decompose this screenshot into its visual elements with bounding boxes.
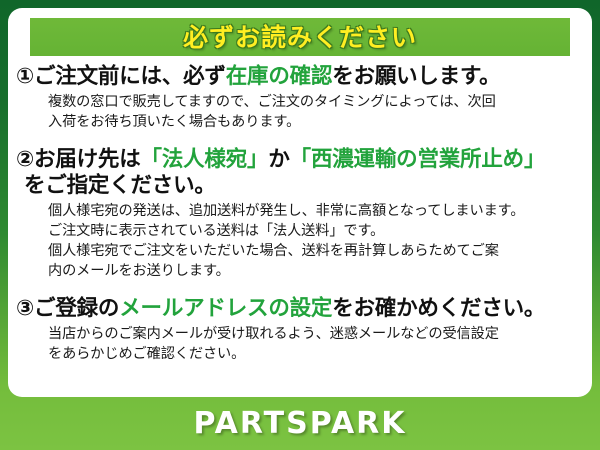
- notice-item-3-subtext: 当店からのご案内メールが受け取れるよう、迷惑メールなどの受信設定 をあらかじめご…: [16, 324, 582, 364]
- notice-item-2-subtext: 個人様宅宛の発送は、追加送料が発生し、非常に高額となってしまいます。 ご注文時に…: [16, 201, 582, 282]
- notice-item-1-subtext: 複数の窓口で販売してますので、ご注文のタイミングによっては、次回 入荷をお待ち頂…: [16, 92, 582, 132]
- notice-item-2: ②お届け先は「法人様宛」か「西濃運輸の営業所止め」をご指定ください。 個人様宅宛…: [8, 147, 592, 282]
- item-2-sub-line-1: 個人様宅宛の発送は、追加送料が発生し、非常に高額となってしまいます。: [48, 201, 582, 221]
- item-2-head-part2: か: [268, 147, 289, 172]
- item-2-number: ②: [16, 147, 34, 172]
- item-3-sub-line-2: をあらかじめご確認ください。: [48, 344, 582, 364]
- notice-list: ①ご注文前には、必ず在庫の確認をお願いします。 複数の窓口で販売してますので、ご…: [8, 64, 592, 364]
- item-1-sub-line-1: 複数の窓口で販売してますので、ご注文のタイミングによっては、次回: [48, 92, 582, 112]
- notice-card: 必ずお読みください ①ご注文前には、必ず在庫の確認をお願いします。 複数の窓口で…: [8, 8, 592, 397]
- notice-item-3-heading: ③ご登録のメールアドレスの設定をお確かめください。: [16, 296, 582, 322]
- item-3-number: ③: [16, 296, 34, 321]
- title-band: 必ずお読みください: [30, 18, 570, 56]
- item-2-highlight-1: 「法人様宛」: [141, 147, 269, 172]
- item-1-sub-line-2: 入荷をお待ち頂いたく場合もあります。: [48, 112, 582, 132]
- item-3-head-part1: ご登録の: [34, 296, 119, 321]
- brand-name: PARTSPARK: [193, 409, 406, 439]
- item-1-head-part2: をお願いします。: [332, 64, 500, 89]
- notice-item-1-heading: ①ご注文前には、必ず在庫の確認をお願いします。: [16, 64, 582, 90]
- notice-banner: 必ずお読みください ①ご注文前には、必ず在庫の確認をお願いします。 複数の窓口で…: [0, 0, 600, 450]
- item-2-highlight-2: 「西濃運輸の営業所止め」: [290, 147, 546, 172]
- notice-item-2-heading: ②お届け先は「法人様宛」か「西濃運輸の営業所止め」をご指定ください。: [16, 147, 582, 199]
- item-3-sub-line-1: 当店からのご案内メールが受け取れるよう、迷惑メールなどの受信設定: [48, 324, 582, 344]
- item-2-head-part1: お届け先は: [34, 147, 141, 172]
- notice-item-1: ①ご注文前には、必ず在庫の確認をお願いします。 複数の窓口で販売してますので、ご…: [8, 64, 592, 133]
- item-3-head-part2: をお確かめください。: [332, 296, 545, 321]
- item-1-number: ①: [16, 64, 34, 89]
- item-2-sub-line-4: 内のメールをお送りします。: [48, 261, 582, 281]
- notice-item-3: ③ご登録のメールアドレスの設定をお確かめください。 当店からのご案内メールが受け…: [8, 296, 592, 365]
- item-2-sub-line-3: 個人様宅宛でご注文をいただいた場合、送料を再計算しあらためてご案: [48, 241, 582, 261]
- item-2-sub-line-2: ご注文時に表示されている送料は「法人送料」です。: [48, 221, 582, 241]
- item-1-highlight: 在庫の確認: [226, 64, 333, 89]
- item-1-head-part1: ご注文前には、必ず: [34, 64, 226, 89]
- item-2-head-line2: をご指定ください。: [16, 173, 582, 199]
- brand-footer: PARTSPARK: [0, 397, 600, 450]
- banner-title: 必ずお読みください: [183, 25, 417, 50]
- item-3-highlight: メールアドレスの設定: [119, 296, 332, 321]
